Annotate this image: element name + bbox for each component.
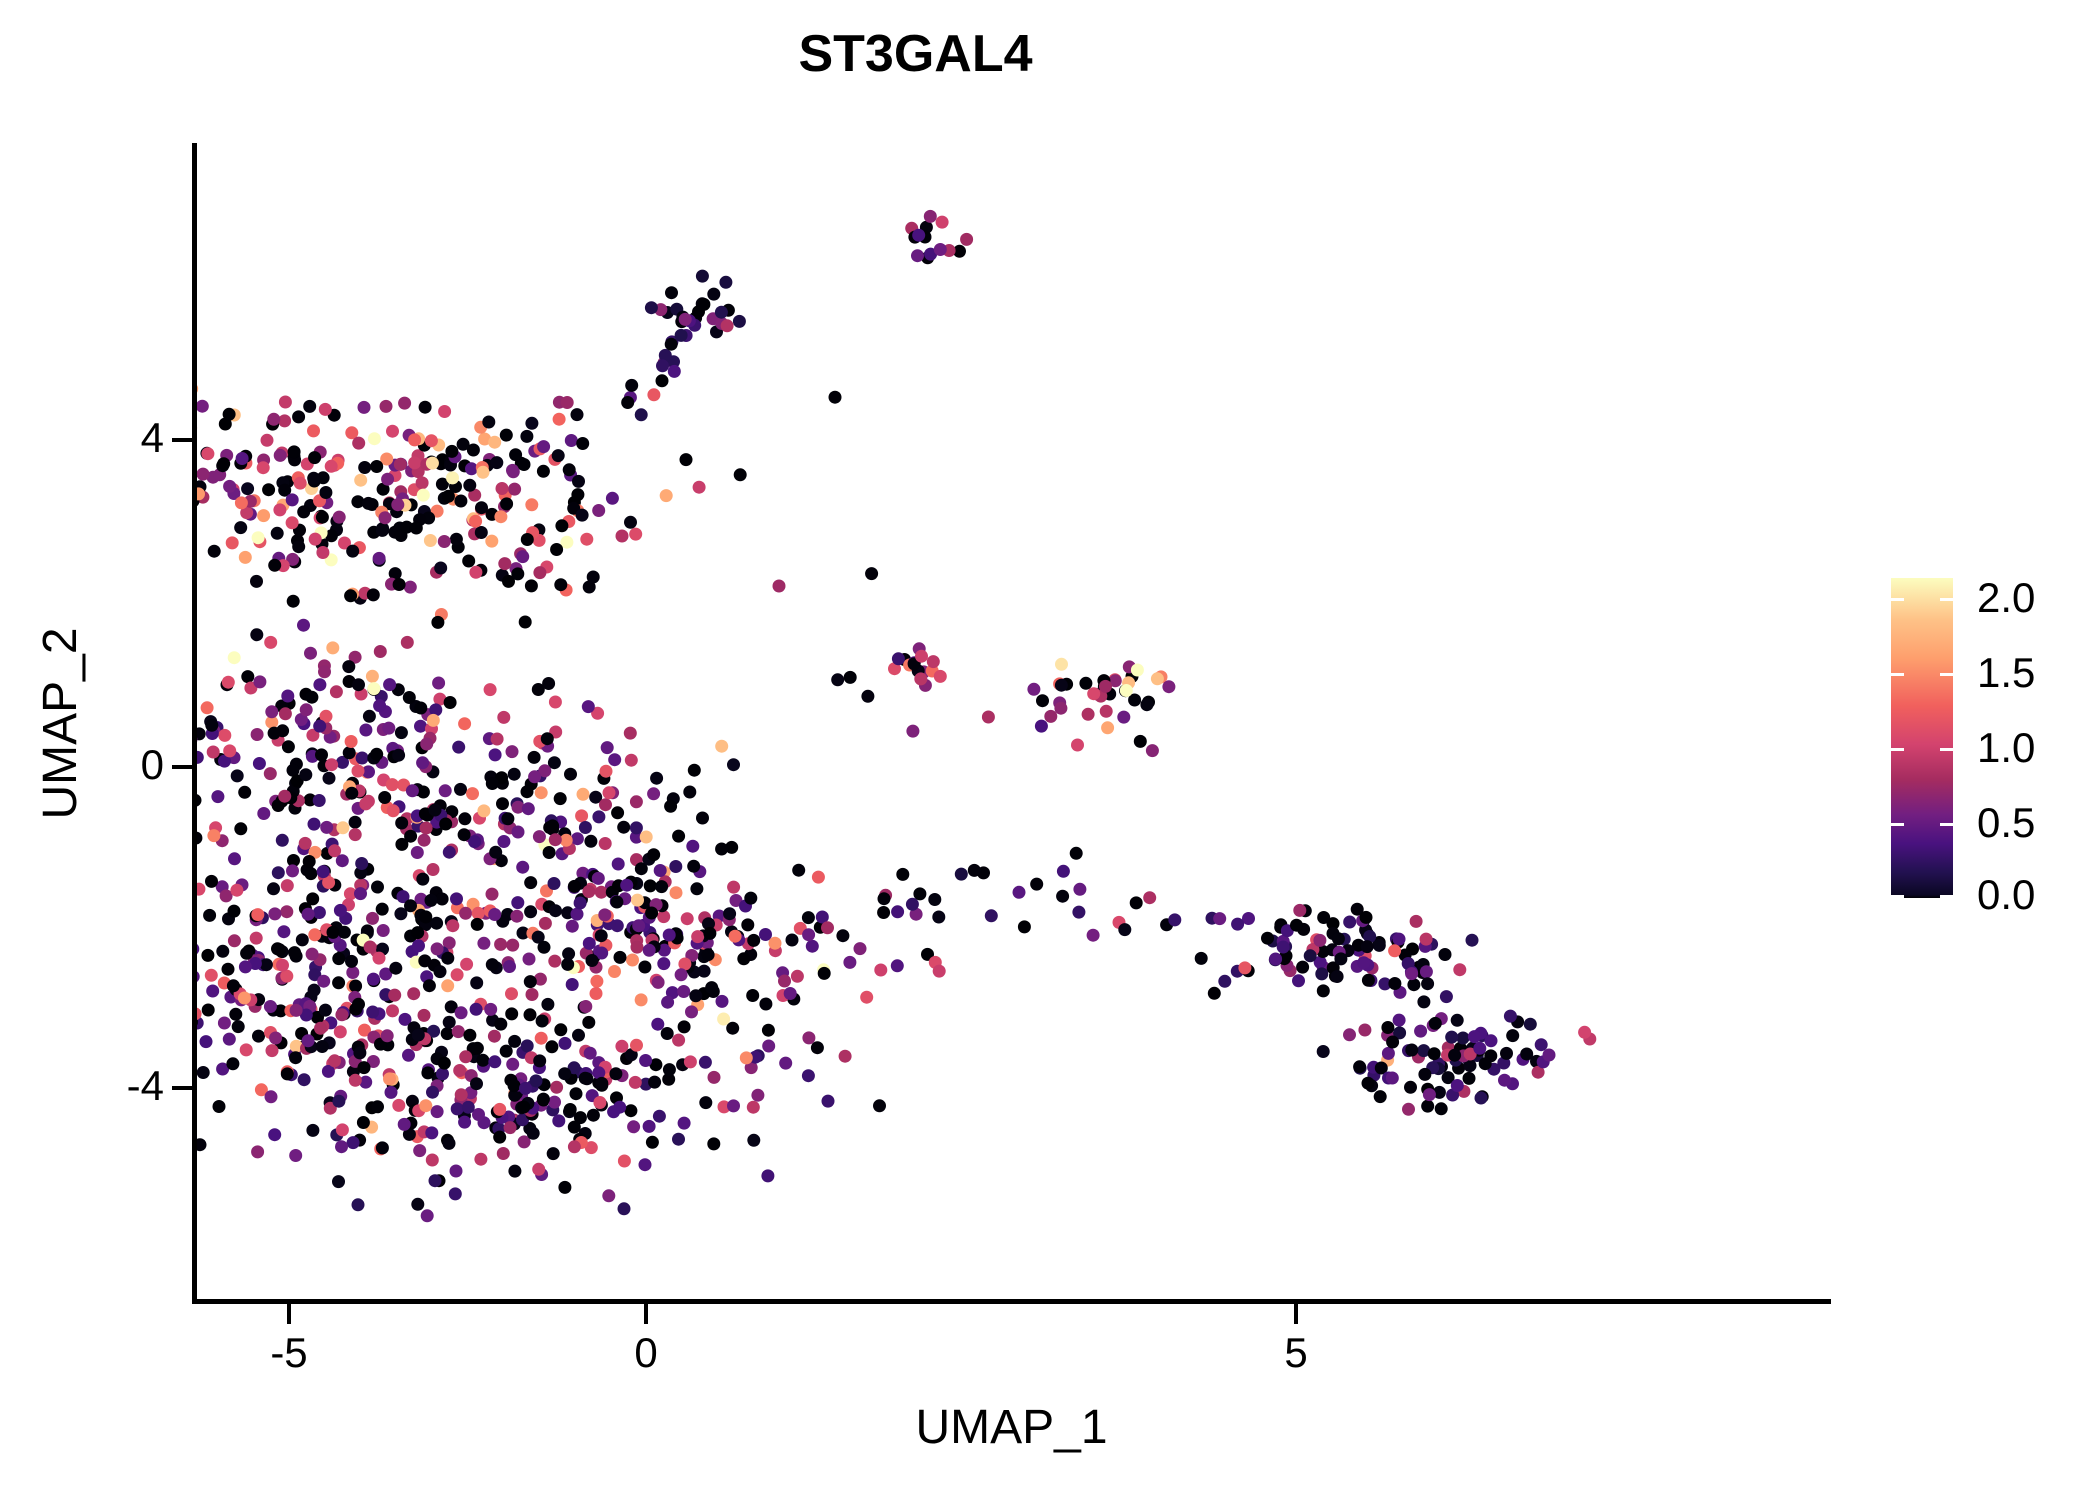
x-axis-title: UMAP_1 — [192, 1400, 1831, 1455]
colorbar-tick-15-right — [1940, 673, 1953, 676]
x-tick-label-5: 5 — [1284, 1331, 1307, 1375]
colorbar-tick-05-left — [1891, 823, 1904, 826]
y-tick-mark-0 — [172, 765, 193, 769]
y-axis-line — [192, 143, 197, 1304]
y-tick-label-minus4: -4 — [127, 1065, 164, 1107]
colorbar-label-2: 2.0 — [1977, 577, 2035, 619]
colorbar-label-1: 1.0 — [1977, 727, 2035, 769]
colorbar-label-05: 0.5 — [1977, 802, 2035, 844]
y-tick-label-4: 4 — [141, 417, 164, 459]
scatter-plot-panel — [197, 143, 1831, 1299]
umap-feature-plot: ST3GAL4 4 0 -4 -5 0 5 UMAP_1 UMAP_2 2.0 … — [0, 0, 2100, 1500]
colorbar-tick-15-left — [1891, 673, 1904, 676]
x-axis-line — [192, 1299, 1831, 1304]
colorbar-tick-1-right — [1940, 748, 1953, 751]
page-title: ST3GAL4 — [0, 24, 1831, 84]
x-tick-label-minus5: -5 — [270, 1331, 307, 1375]
x-tick-mark-0 — [644, 1303, 648, 1324]
scatter-points-layer — [197, 143, 1831, 1299]
colorbar-tick-2-left — [1891, 598, 1904, 601]
colorbar-tick-1-left — [1891, 748, 1904, 751]
x-tick-mark-minus5 — [287, 1303, 291, 1324]
y-tick-mark-minus4 — [172, 1086, 193, 1090]
y-axis-title: UMAP_2 — [33, 143, 88, 1304]
y-tick-label-0: 0 — [141, 744, 164, 786]
colorbar-gradient — [1891, 578, 1953, 898]
colorbar-tick-0-left — [1891, 895, 1904, 898]
colorbar-tick-05-right — [1940, 823, 1953, 826]
colorbar-tick-2-right — [1940, 598, 1953, 601]
x-tick-mark-5 — [1294, 1303, 1298, 1324]
colorbar-label-0: 0.0 — [1977, 874, 2035, 916]
colorbar-label-15: 1.5 — [1977, 652, 2035, 694]
colorbar-legend: 2.0 1.5 1.0 0.5 0.0 — [1891, 578, 2071, 908]
y-tick-mark-4 — [172, 438, 193, 442]
x-tick-label-0: 0 — [634, 1331, 657, 1375]
colorbar-tick-0-right — [1940, 895, 1953, 898]
